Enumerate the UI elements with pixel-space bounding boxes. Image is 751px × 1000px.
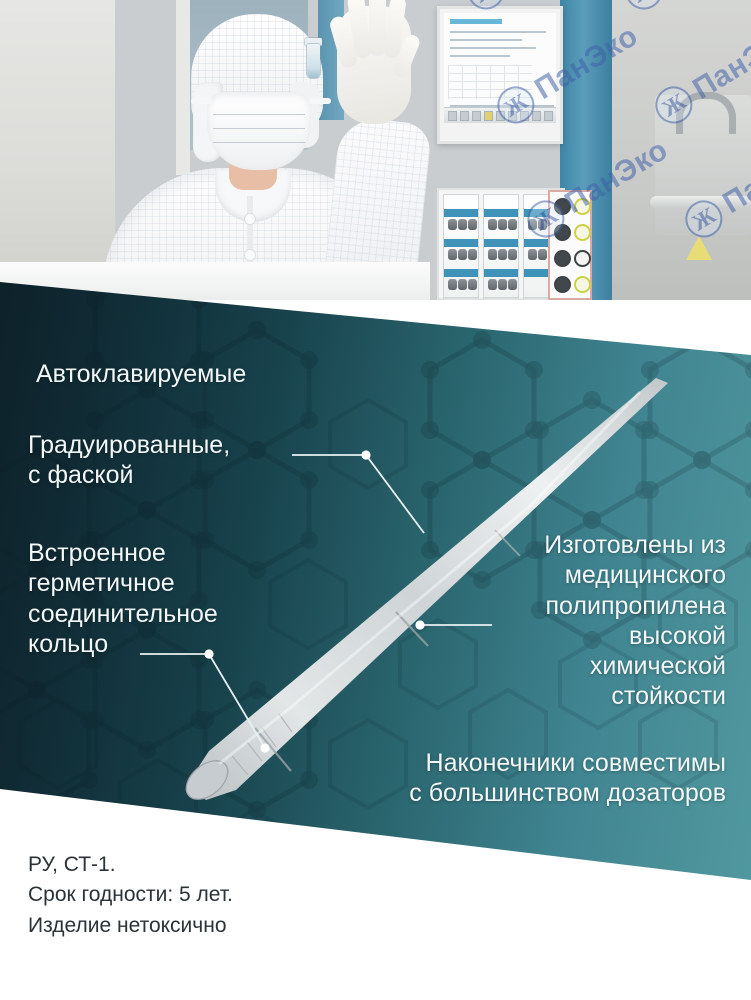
photo-relay-cabinet bbox=[437, 188, 565, 300]
photo-control-monitor bbox=[437, 6, 563, 144]
feature-text-graduated-beveled: Градуированные, с фаской bbox=[28, 430, 230, 491]
lab-technician bbox=[95, 0, 425, 300]
feature-text-autoclavable: Автоклавируемые bbox=[36, 359, 246, 389]
certification-footnote: РУ, СТ-1. Срок годности: 5 лет. Изделие … bbox=[28, 850, 233, 941]
product-infographic-poster: ЖПанЭкоЖПанЭкоЖПанЭкоЖПанЭкоЖПанЭкоЖПанЭ… bbox=[0, 0, 751, 1000]
photo-monitor-screen bbox=[444, 13, 556, 123]
photo-cart-handle bbox=[676, 92, 736, 134]
specimen-tube bbox=[307, 44, 320, 78]
photo-monitor-taskbar bbox=[444, 107, 556, 123]
hero-photo bbox=[0, 0, 751, 300]
photo-pipe bbox=[650, 196, 751, 209]
feature-text-dispenser-compatibility: Наконечники совместимы с большинством до… bbox=[300, 748, 726, 809]
technician-glove bbox=[337, 6, 411, 124]
technician-face-mask bbox=[207, 92, 311, 170]
photo-indicator-panel bbox=[548, 190, 592, 300]
feature-text-medical-polypropylene: Изготовлены из медицинского полипропилен… bbox=[430, 530, 726, 712]
feature-text-sealing-ring: Встроенное герметичное соединительное ко… bbox=[28, 538, 218, 659]
